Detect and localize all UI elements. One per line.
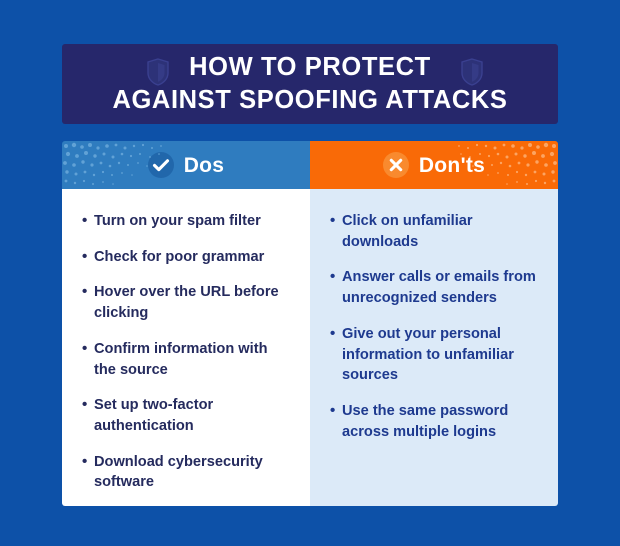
donts-list: Click on unfamiliar downloads Answer cal… [330, 211, 540, 442]
title-line-2: AGAINST SPOOFING ATTACKS [66, 84, 554, 117]
list-item: Set up two-factor authentication [82, 395, 292, 436]
donts-body: Click on unfamiliar downloads Answer cal… [310, 189, 558, 506]
list-item: Use the same password across multiple lo… [330, 401, 540, 442]
dos-body: Turn on your spam filter Check for poor … [62, 189, 310, 506]
list-item: Turn on your spam filter [82, 211, 292, 232]
list-item: Click on unfamiliar downloads [330, 211, 540, 252]
list-item: Confirm information with the source [82, 339, 292, 380]
title-line-1: HOW TO PROTECT [66, 51, 554, 84]
list-item: Hover over the URL before clicking [82, 282, 292, 323]
page-title: HOW TO PROTECT AGAINST SPOOFING ATTACKS [62, 51, 558, 116]
list-item: Answer calls or emails from unrecognized… [330, 267, 540, 308]
column-donts: Don'ts Click on unfamiliar downloads Ans… [310, 141, 558, 506]
comparison-columns: Dos Turn on your spam filter Check for p… [62, 141, 558, 506]
dos-header: Dos [62, 141, 310, 189]
list-item: Check for poor grammar [82, 247, 292, 268]
dos-header-label: Dos [184, 155, 225, 176]
check-circle-icon [148, 152, 174, 178]
donts-header-label: Don'ts [419, 155, 485, 176]
infographic-root: HOW TO PROTECT AGAINST SPOOFING ATTACKS [0, 0, 620, 546]
x-circle-icon [383, 152, 409, 178]
donts-header: Don'ts [310, 141, 558, 189]
column-dos: Dos Turn on your spam filter Check for p… [62, 141, 310, 506]
list-item: Download cybersecurity software [82, 452, 292, 493]
title-banner: HOW TO PROTECT AGAINST SPOOFING ATTACKS [62, 44, 558, 124]
dos-list: Turn on your spam filter Check for poor … [82, 211, 292, 493]
list-item: Give out your personal information to un… [330, 324, 540, 386]
